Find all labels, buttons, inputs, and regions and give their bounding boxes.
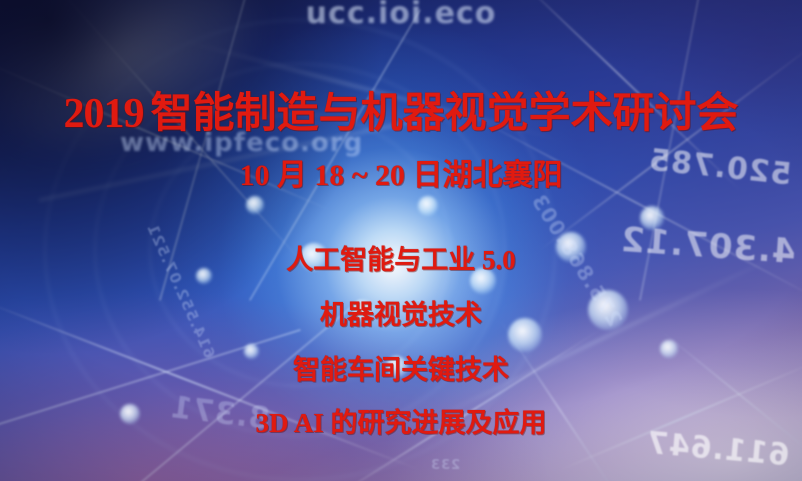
page-title: 2019智能制造与机器视觉学术研讨会 [0,93,802,135]
topic-item: 智能车间关键技术 [0,357,802,384]
topic-item: 人工智能与工业 5.0 [0,247,802,274]
title-main: 智能制造与机器视觉学术研讨会 [150,91,738,137]
title-year: 2019 [63,91,143,137]
topic-item: 机器视觉技术 [0,302,802,329]
topic-item: 3D AI 的研究进展及应用 [0,410,802,437]
conference-poster: ucc.ioi.eco www.ipfeco.org 520.785 4.307… [0,0,802,481]
poster-content: 2019智能制造与机器视觉学术研讨会 10 月 18 ~ 20 日湖北襄阳 人工… [0,0,802,481]
event-date-location: 10 月 18 ~ 20 日湖北襄阳 [0,161,802,191]
